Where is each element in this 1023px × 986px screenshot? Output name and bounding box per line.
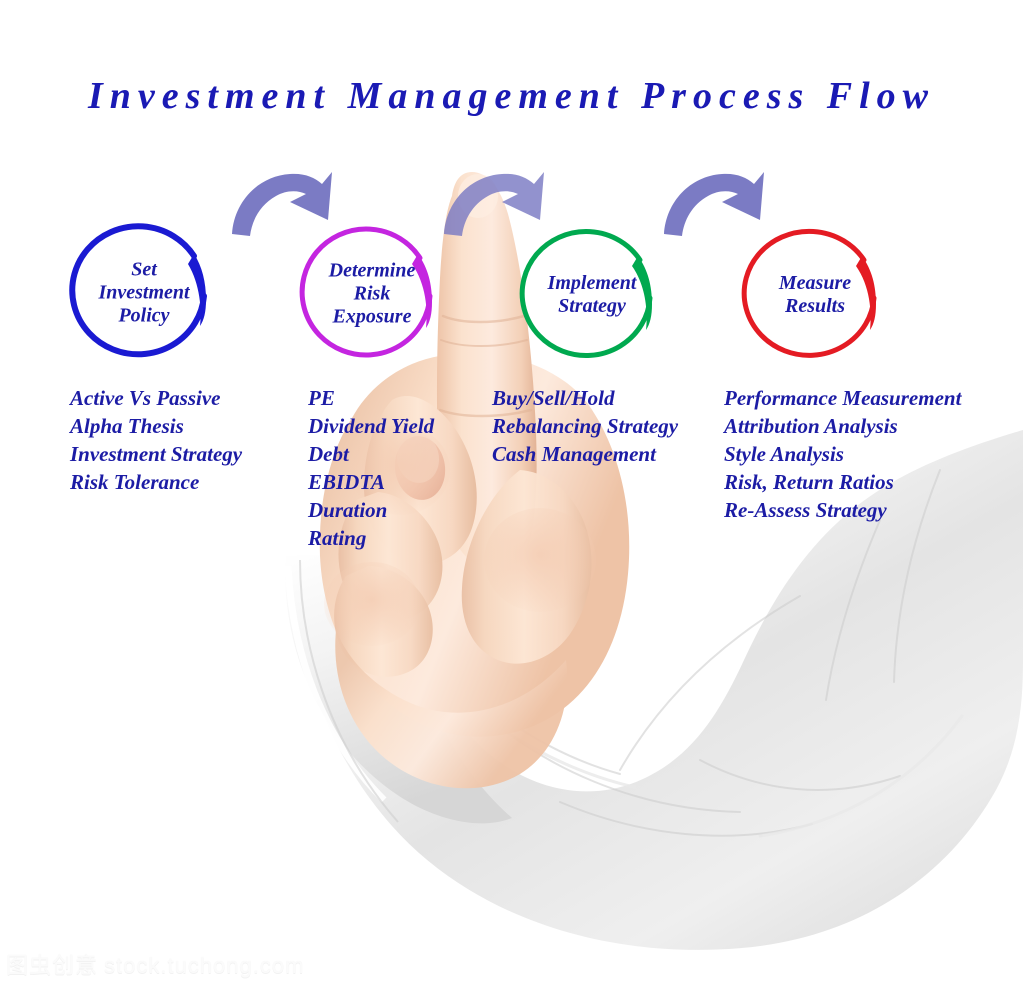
stock-watermark: 图虫创意stock.tuchong.com xyxy=(6,948,304,980)
list-item: Dividend Yield xyxy=(308,412,478,440)
stage-ring-3-icon xyxy=(518,224,666,366)
list-item: EBIDTA xyxy=(308,468,478,496)
stage-ring-2-icon xyxy=(298,222,446,366)
page-title: Investment Management Process Flow xyxy=(0,74,1023,118)
diagram-canvas: Investment Management Process Flow xyxy=(0,0,1023,986)
watermark-en-text: stock.tuchong.com xyxy=(104,953,304,978)
list-item: Cash Management xyxy=(492,440,732,468)
list-item: Duration xyxy=(308,496,478,524)
list-item: Alpha Thesis xyxy=(70,412,300,440)
stage-items-set-investment-policy: Active Vs Passive Alpha Thesis Investmen… xyxy=(70,384,300,496)
stage-node-measure-results[interactable]: Measure Results xyxy=(740,224,890,366)
list-item: Rebalancing Strategy xyxy=(492,412,732,440)
stage-ring-4-icon xyxy=(740,224,890,366)
stage-node-implement-strategy[interactable]: Implement Strategy xyxy=(518,224,666,366)
list-item: Active Vs Passive xyxy=(70,384,300,412)
stage-node-determine-risk-exposure[interactable]: Determine Risk Exposure xyxy=(298,222,446,366)
list-item: Buy/Sell/Hold xyxy=(492,384,732,412)
stage-node-set-investment-policy[interactable]: Set Investment Policy xyxy=(68,220,220,366)
watermark-cn-text: 图虫创意 xyxy=(6,954,98,979)
list-item: Attribution Analysis xyxy=(724,412,1014,440)
list-item: Style Analysis xyxy=(724,440,1014,468)
stage-items-measure-results: Performance Measurement Attribution Anal… xyxy=(724,384,1014,524)
list-item: Investment Strategy xyxy=(70,440,300,468)
stage-items-implement-strategy: Buy/Sell/Hold Rebalancing Strategy Cash … xyxy=(492,384,732,468)
list-item: Re-Assess Strategy xyxy=(724,496,1014,524)
stage-ring-1-icon xyxy=(68,220,220,366)
list-item: Risk Tolerance xyxy=(70,468,300,496)
list-item: Risk, Return Ratios xyxy=(724,468,1014,496)
list-item: PE xyxy=(308,384,478,412)
list-item: Performance Measurement xyxy=(724,384,1014,412)
stage-items-determine-risk-exposure: PE Dividend Yield Debt EBIDTA Duration R… xyxy=(308,384,478,552)
list-item: Debt xyxy=(308,440,478,468)
list-item: Rating xyxy=(308,524,478,552)
